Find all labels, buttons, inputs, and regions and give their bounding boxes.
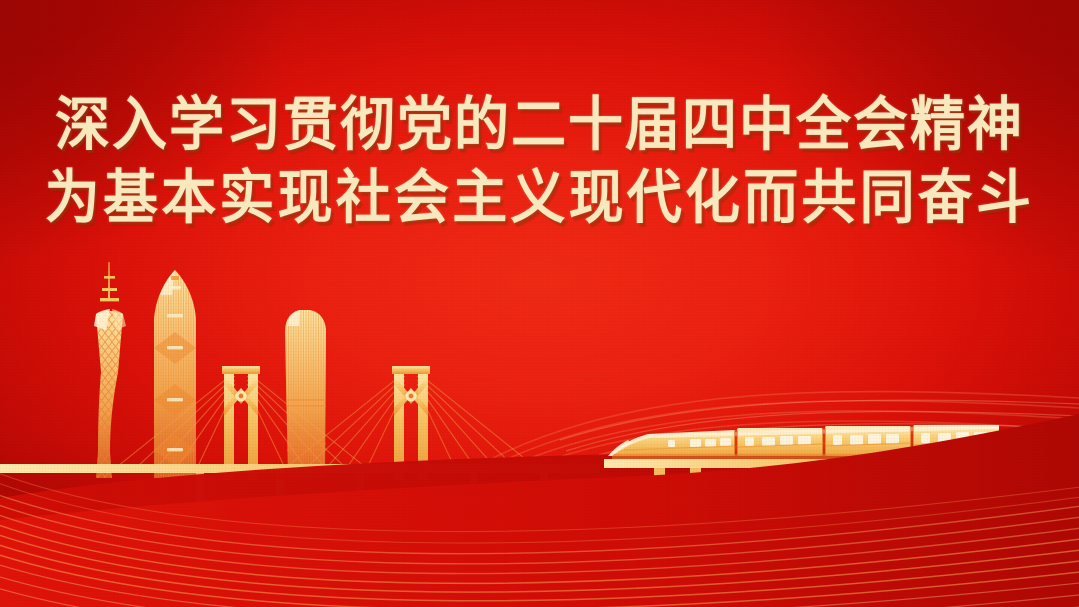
headline-line-1: 深入学习贯彻党的二十届四中全会精神 (0, 86, 1079, 163)
headline-line-2: 为基本实现社会主义现代化而共同奋斗 (0, 159, 1079, 236)
poster-canvas: 深入学习贯彻党的二十届四中全会精神 为基本实现社会主义现代化而共同奋斗 (0, 0, 1079, 607)
headline-block: 深入学习贯彻党的二十届四中全会精神 为基本实现社会主义现代化而共同奋斗 (0, 86, 1079, 232)
